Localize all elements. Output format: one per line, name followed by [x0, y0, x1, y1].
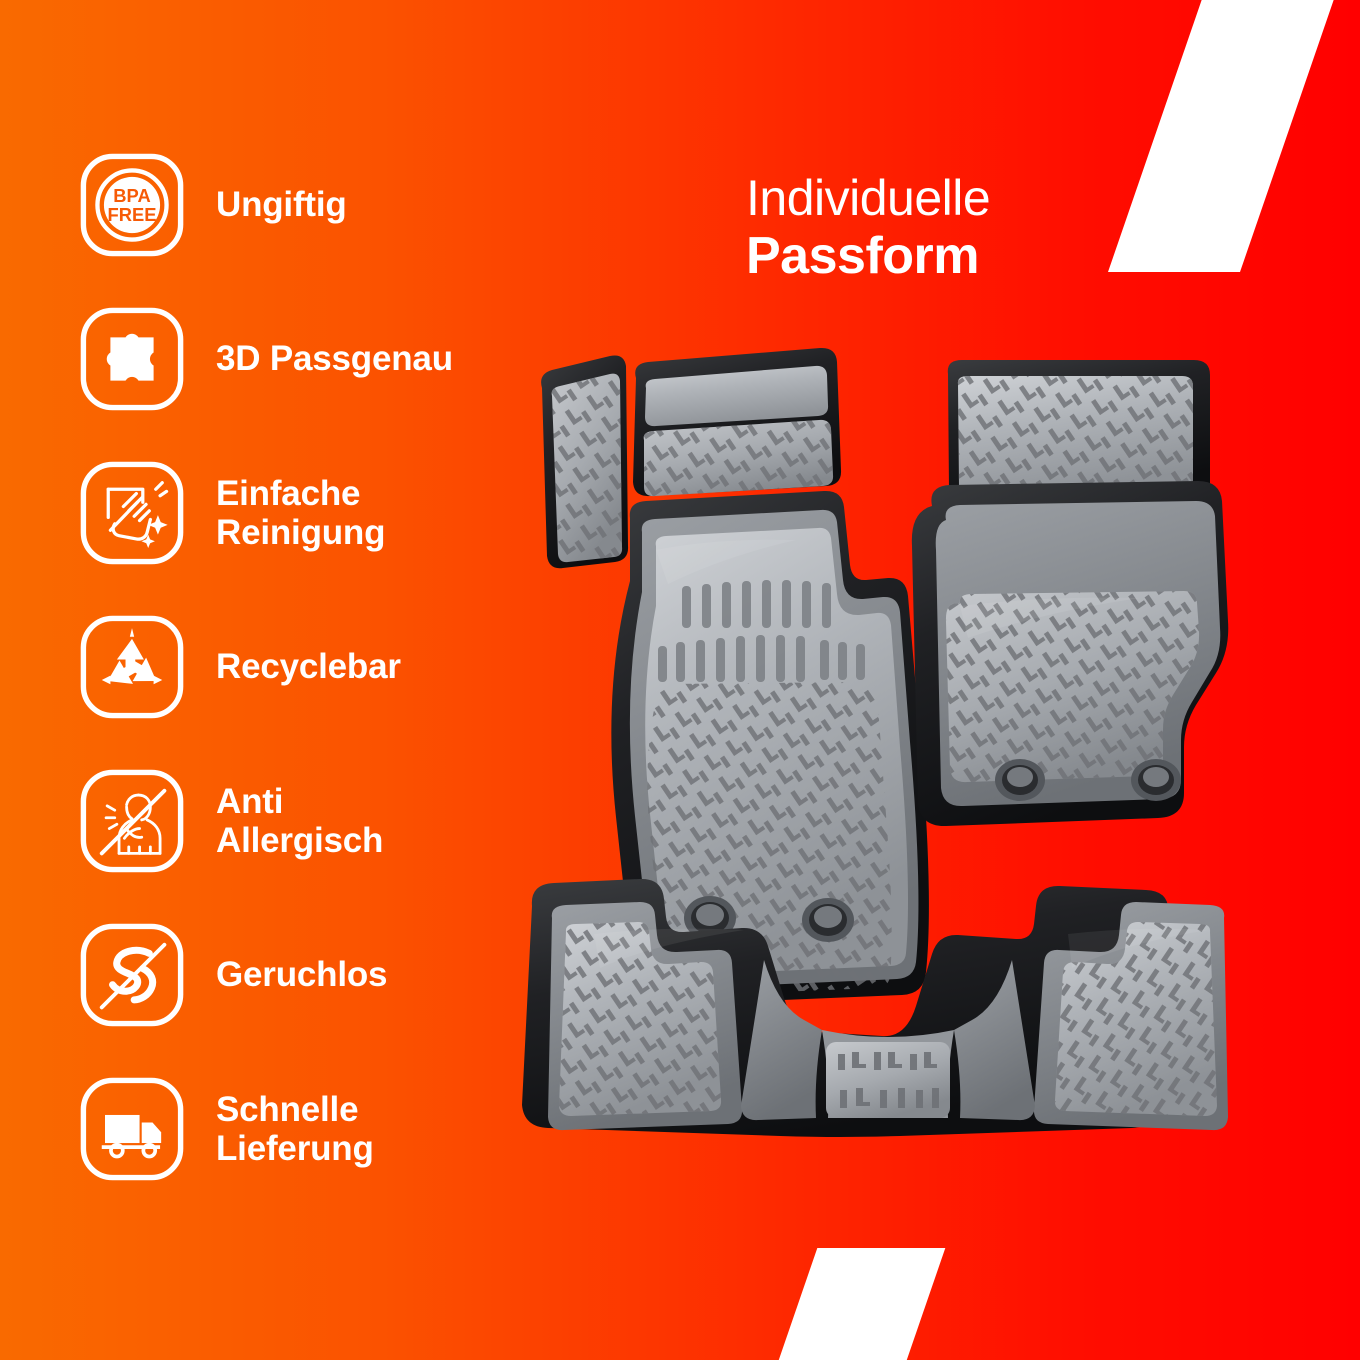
svg-text:BPA: BPA: [113, 185, 150, 206]
feature-label: Recyclebar: [216, 647, 401, 686]
feature-label: 3D Passgenau: [216, 339, 453, 378]
feature-label: Ungiftig: [216, 185, 347, 224]
no-allergy-icon: [78, 767, 186, 875]
feature-label: Schnelle Lieferung: [216, 1090, 374, 1168]
feature-item-3d-passgenau: 3D Passgenau: [78, 304, 508, 414]
headline-line-1: Individuelle: [746, 172, 990, 225]
no-odor-icon: [78, 921, 186, 1029]
svg-text:FREE: FREE: [108, 204, 157, 225]
feature-item-anti-allergisch: Anti Allergisch: [78, 766, 508, 876]
feature-item-ungiftig: BPA FREE Ungiftig: [78, 150, 508, 260]
diagonal-stripe-top: [1108, 0, 1336, 272]
delivery-truck-icon: [78, 1075, 186, 1183]
feature-item-einfache-reinigung: Einfache Reinigung: [78, 458, 508, 568]
product-image-floor-mat-set: [480, 340, 1280, 1170]
feature-label: Anti Allergisch: [216, 782, 383, 860]
feature-item-schnelle-lieferung: Schnelle Lieferung: [78, 1074, 508, 1184]
feature-label: Geruchlos: [216, 955, 387, 994]
feature-item-geruchlos: Geruchlos: [78, 920, 508, 1030]
headline: Individuelle Passform: [746, 172, 990, 283]
recycle-icon: [78, 613, 186, 721]
passenger-front-mat: [912, 360, 1228, 826]
cleaning-hand-icon: [78, 459, 186, 567]
feature-item-recyclebar: Recyclebar: [78, 612, 508, 722]
puzzle-piece-icon: [78, 305, 186, 413]
bpa-free-icon: BPA FREE: [78, 151, 186, 259]
diagonal-stripe-bottom: [776, 1248, 945, 1360]
feature-label: Einfache Reinigung: [216, 474, 385, 552]
headline-line-2: Passform: [746, 229, 990, 284]
promo-banner: Individuelle Passform BPA FREE Ungiftig: [0, 0, 1360, 1360]
feature-list: BPA FREE Ungiftig 3D Passgenau: [78, 150, 508, 1184]
